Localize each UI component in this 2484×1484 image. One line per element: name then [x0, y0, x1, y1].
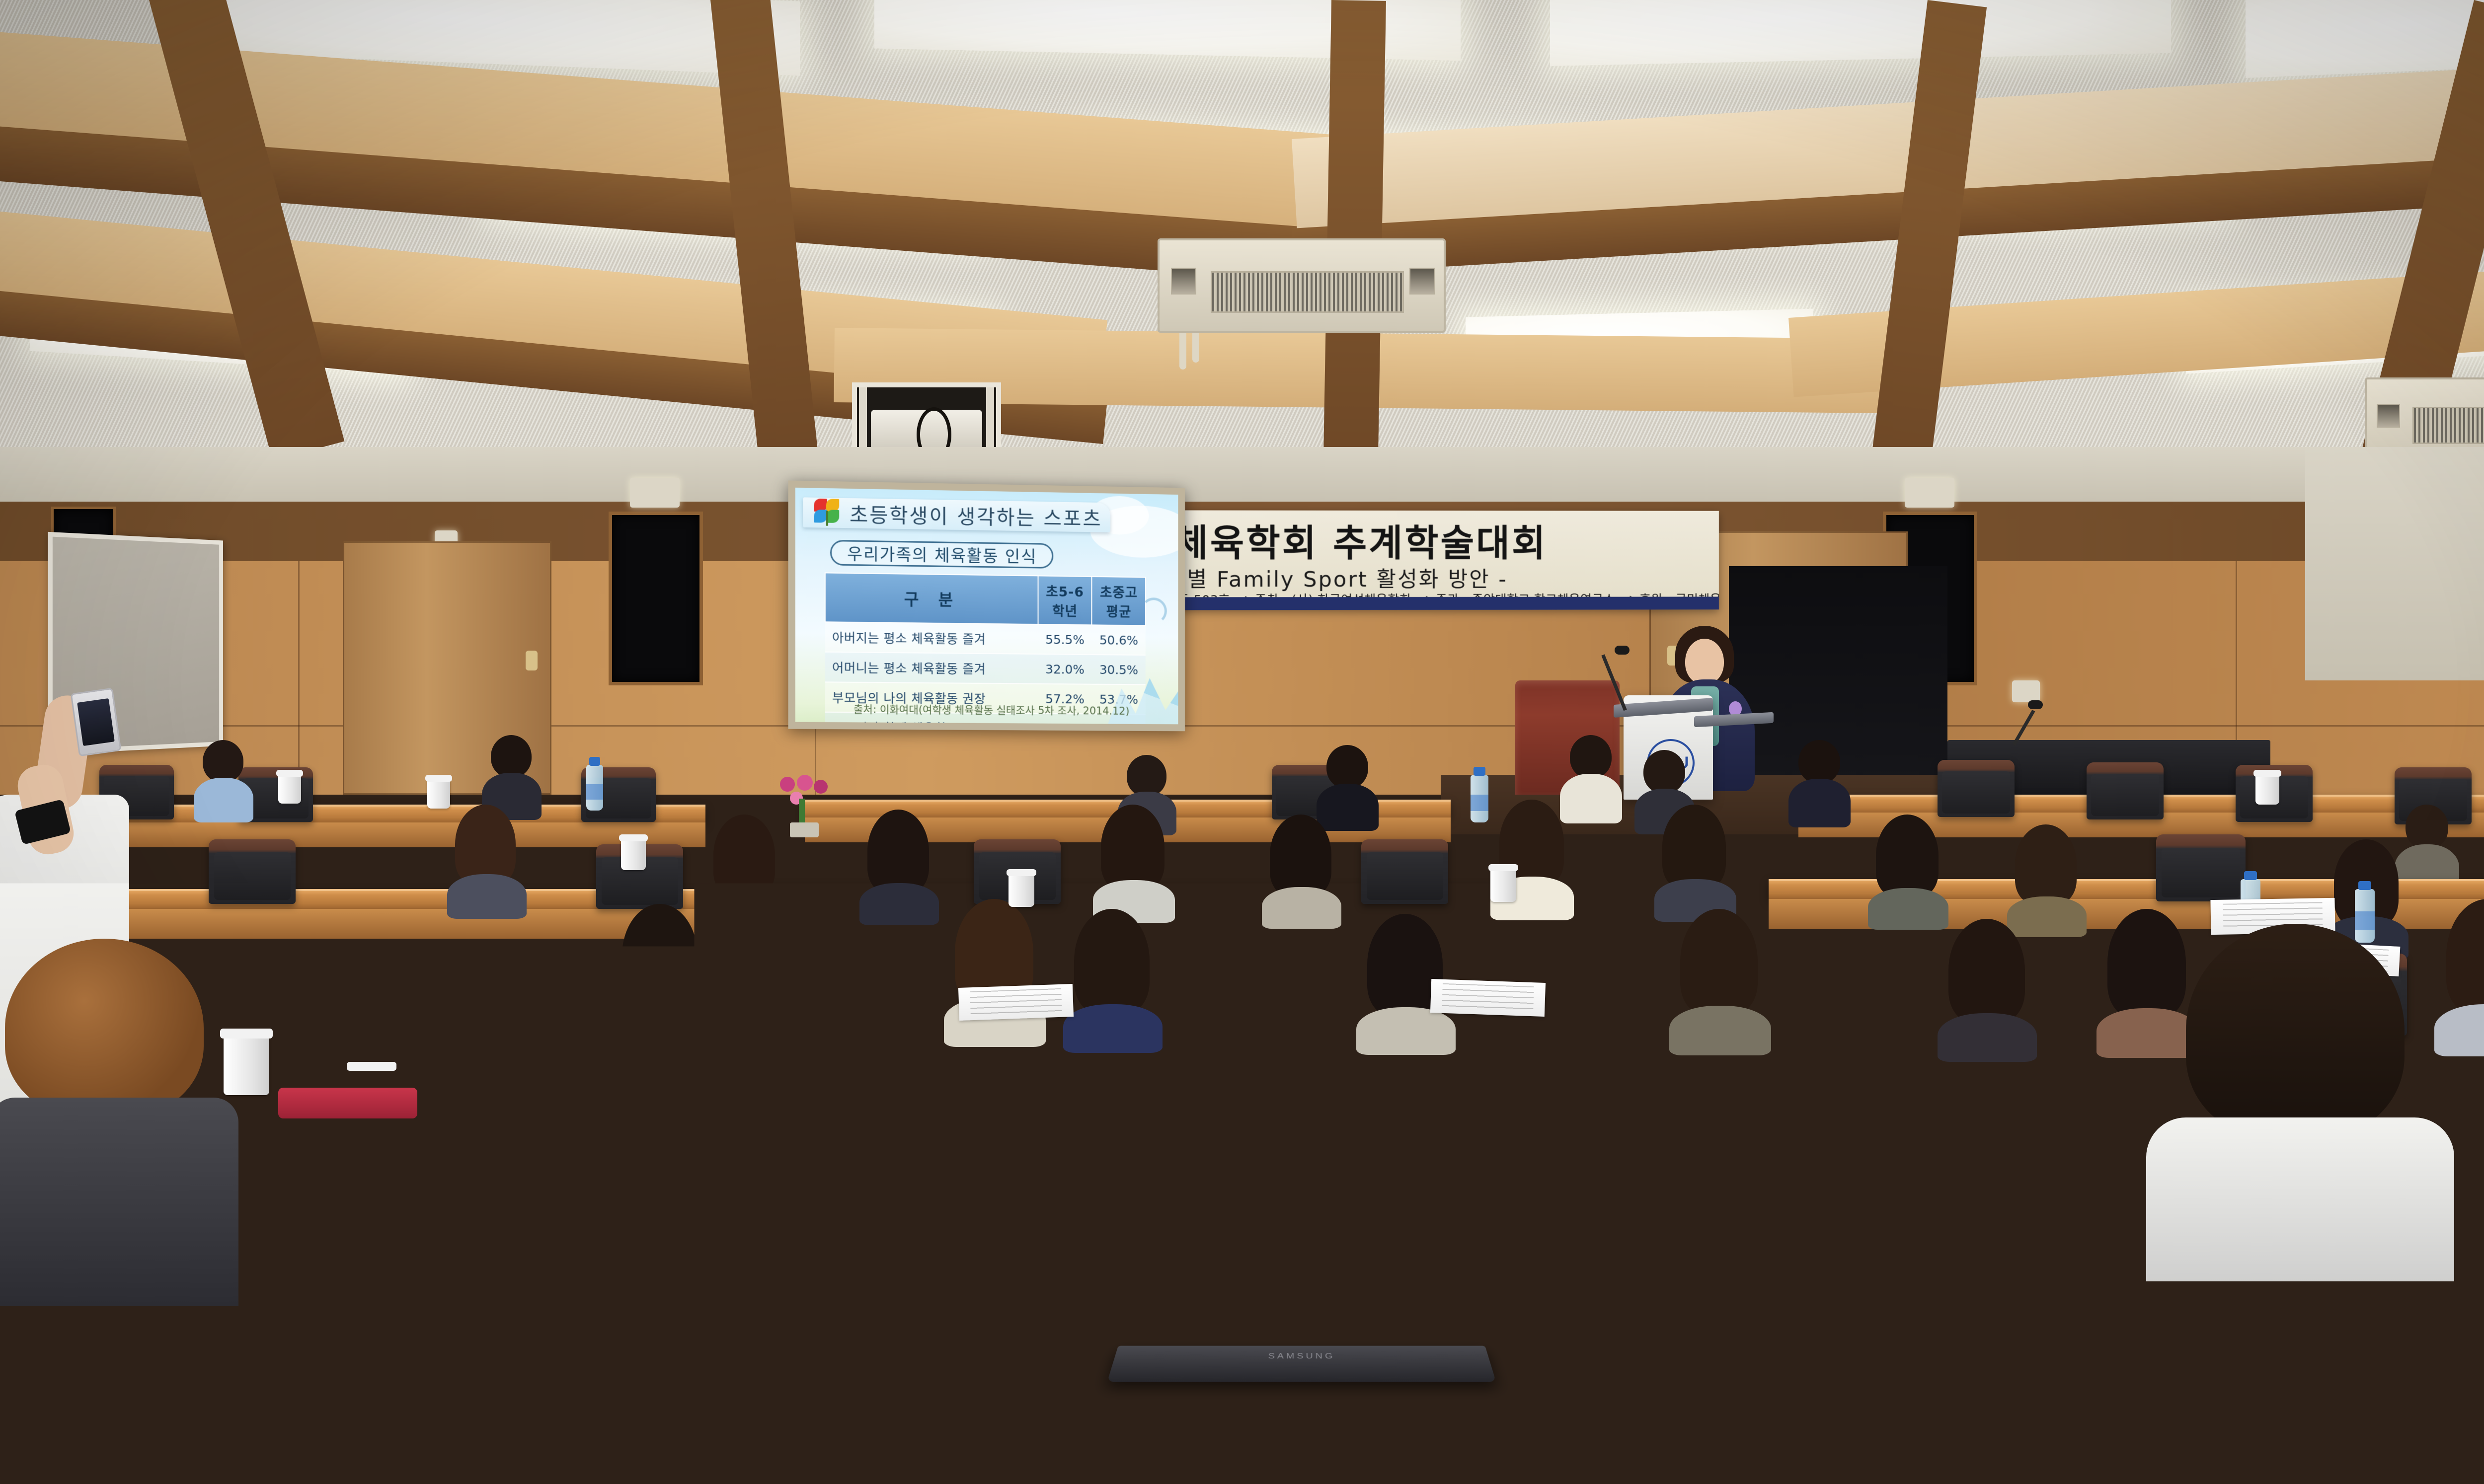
- desktop-icon[interactable]: [1148, 1207, 1159, 1218]
- desktop-icon[interactable]: [1148, 1127, 1159, 1138]
- desk-front-panel: [60, 822, 705, 847]
- paper-cup[interactable]: [527, 1301, 575, 1365]
- table-header-category: 구 분: [825, 573, 1038, 625]
- attendee-white-shirt: [2146, 1117, 2454, 1281]
- slide-swirl-decoration: [1141, 597, 1167, 624]
- table-header-col2: 초중고평균: [1092, 577, 1146, 626]
- handheld-microphone[interactable]: [1575, 1093, 1669, 1152]
- ac-vent-left: [1171, 268, 1196, 295]
- desktop-icon[interactable]: [1202, 1239, 1213, 1250]
- desktop-icon[interactable]: [1202, 1127, 1213, 1138]
- water-bottle[interactable]: [1471, 775, 1488, 822]
- podium-microphone-head: [1615, 646, 1630, 655]
- wallpaper-tagline: Designed to go, Powered to perform.: [1141, 1222, 1457, 1236]
- desktop-icon[interactable]: [1165, 1143, 1176, 1154]
- ac-grille: [2412, 407, 2484, 444]
- flower-arrangement: [775, 775, 835, 834]
- laptop-lid: Designed to go, Powered to perform. SAMS…: [1130, 1110, 1468, 1348]
- audience-member: [1938, 919, 2037, 1050]
- chair[interactable]: [775, 954, 879, 1033]
- chair[interactable]: [1361, 839, 1448, 904]
- audience-member: [1093, 805, 1175, 909]
- paper-cup[interactable]: [621, 839, 646, 870]
- row-value-2: 30.5%: [1092, 655, 1146, 685]
- ac-vent-left: [2377, 404, 2400, 428]
- row-label: 아버지는 평소 체육활동 즐겨: [825, 622, 1038, 654]
- attendee-jacket: [2464, 1242, 2484, 1484]
- desktop-icon[interactable]: [1148, 1159, 1159, 1170]
- ac-vent-right: [1409, 268, 1435, 295]
- laptop-base[interactable]: SAMSUNG: [1107, 1346, 1496, 1382]
- conference-proceedings-booklet[interactable]: [427, 1121, 577, 1193]
- desktop-icon[interactable]: [1148, 1239, 1159, 1250]
- audience-member-foreground: [2464, 1083, 2484, 1484]
- air-conditioner-unit: [1158, 238, 1446, 333]
- desktop-icon[interactable]: [1202, 1207, 1213, 1218]
- desktop-icon[interactable]: [1184, 1143, 1195, 1154]
- audience-member-foreground: [0, 939, 238, 1286]
- row-value-2: 50.6%: [1092, 625, 1146, 655]
- desktop-icon[interactable]: [1165, 1207, 1176, 1218]
- audience-member: [1262, 815, 1341, 914]
- ac-drain-pipe: [1179, 333, 1186, 370]
- chair[interactable]: [2087, 762, 2164, 819]
- audience-member: [1356, 914, 1456, 1043]
- audience-member: [1868, 815, 1948, 916]
- lecture-hall-photo: 여성체육학회 추계학술대회 생애주기별 Family Sport 활성화 방안 …: [0, 0, 2484, 1484]
- wall-seam: [298, 561, 300, 795]
- samsung-logo: SAMSUNG: [1357, 1293, 1441, 1321]
- conference-proceedings-booklet[interactable]: [296, 1114, 424, 1195]
- desktop-icon[interactable]: [1165, 1175, 1176, 1186]
- projection-screen: 초등학생이 생각하는 스포츠 우리가족의 체육활동 인식 구 분 초5-6학년 …: [788, 480, 1185, 731]
- audience-member: [447, 805, 527, 909]
- audience-member: [2007, 824, 2087, 924]
- attendee-jacket: [0, 1098, 238, 1306]
- slide-title-bar: 초등학생이 생각하는 스포츠: [803, 497, 1110, 532]
- paper-cup[interactable]: [278, 775, 301, 804]
- handout-paper[interactable]: [958, 984, 1074, 1021]
- paper-cup[interactable]: [2255, 775, 2279, 805]
- smartphone-camera[interactable]: [71, 688, 122, 757]
- red-pouch[interactable]: [278, 1088, 417, 1118]
- desktop-icon[interactable]: [1148, 1191, 1159, 1202]
- table-row: 어머니는 평소 체육활동 즐겨 32.0% 30.5%: [825, 652, 1146, 685]
- desktop-icon[interactable]: [1184, 1207, 1195, 1218]
- row-label: 어머니는 평소 체육활동 즐겨: [825, 652, 1038, 684]
- slide-title: 초등학생이 생각하는 스포츠: [850, 499, 1102, 532]
- row-value-1: 55.5%: [1038, 624, 1092, 655]
- desktop-icon[interactable]: [1202, 1143, 1213, 1154]
- desktop-icon[interactable]: [1165, 1191, 1176, 1202]
- audience-member: [859, 810, 939, 911]
- audience-member-foreground: [2146, 924, 2454, 1281]
- audience-member: [482, 735, 542, 815]
- desktop-icon[interactable]: [1184, 1159, 1195, 1170]
- desktop-icon[interactable]: [1165, 1239, 1176, 1250]
- yellow-note[interactable]: [654, 1114, 717, 1151]
- ac-drain-pipe: [1192, 333, 1199, 363]
- pinwheel-icon: [814, 499, 841, 527]
- table-row: 아버지는 평소 체육활동 즐겨 55.5% 50.6%: [825, 622, 1146, 655]
- paper-cup[interactable]: [427, 780, 450, 809]
- desktop-icon[interactable]: [1202, 1159, 1213, 1170]
- audience-member: [611, 904, 710, 1036]
- desktop-icon[interactable]: [1148, 1175, 1159, 1186]
- desktop-icon[interactable]: [1165, 1159, 1176, 1170]
- attendee-jacket: [805, 1356, 1103, 1484]
- webcam-icon: [1297, 1114, 1302, 1119]
- ceiling-light-panel: [2246, 0, 2484, 78]
- attendee-jacket: [507, 1356, 815, 1484]
- curly-hair: [5, 939, 204, 1117]
- wall-outlet-plate[interactable]: [2012, 680, 2040, 702]
- desktop-icon[interactable]: [1202, 1175, 1213, 1186]
- laptop-display[interactable]: Designed to go, Powered to perform. SAMS…: [1141, 1123, 1457, 1338]
- audience-member: [705, 815, 785, 914]
- chair[interactable]: [2156, 834, 2246, 901]
- desktop-icon[interactable]: [1184, 1175, 1195, 1186]
- table-header-col1: 초5-6학년: [1038, 576, 1092, 625]
- chair[interactable]: [1938, 760, 2015, 817]
- water-bottle[interactable]: [586, 765, 603, 811]
- wall-plaster-column: [2305, 447, 2484, 680]
- attendee-hair: [2186, 924, 2405, 1137]
- desktop-icon[interactable]: [1184, 1239, 1195, 1250]
- wall-sconce: [1905, 478, 1954, 508]
- slide-section-label: 우리가족의 체육활동 인식: [830, 540, 1053, 569]
- audience-member: [1669, 909, 1771, 1043]
- row-value-1: 32.0%: [1038, 654, 1092, 684]
- audience-member: [194, 740, 253, 815]
- slide-source-note: 출처: 이화여대(여학생 체육활동 실태조사 5차 조사, 2014.12): [830, 701, 1152, 718]
- desk-front-panel: [45, 909, 710, 939]
- ac-grille: [1211, 271, 1404, 313]
- audience-member-foreground: [805, 1152, 1103, 1484]
- door-handle[interactable]: [526, 651, 538, 670]
- table-header-row: 구 분 초5-6학년 초중고평균: [825, 573, 1146, 626]
- audience-member: [1654, 805, 1736, 909]
- handout-paper[interactable]: [1430, 979, 1546, 1017]
- laptop-bezel-brand: SAMSUNG: [1113, 1352, 1489, 1361]
- audience-member: [1063, 909, 1163, 1040]
- chair[interactable]: [1192, 954, 1299, 1036]
- laptop-computer[interactable]: Designed to go, Powered to perform. SAMS…: [1130, 1110, 1468, 1348]
- wall-speaker-left: [609, 512, 703, 685]
- ceiling: [0, 0, 2484, 487]
- table-microphone-head: [2028, 700, 2043, 709]
- desktop-icon[interactable]: [1148, 1143, 1159, 1154]
- paper-cup[interactable]: [224, 1036, 269, 1095]
- chair[interactable]: [209, 839, 296, 904]
- desktop-icon[interactable]: [1202, 1191, 1213, 1202]
- paper-cup[interactable]: [1490, 869, 1516, 902]
- attendee-hair: [840, 1152, 1068, 1376]
- presentation-slide: 초등학생이 생각하는 스포츠 우리가족의 체육활동 인식 구 분 초5-6학년 …: [795, 488, 1178, 724]
- wall-sconce: [630, 478, 680, 508]
- paper-cup[interactable]: [1009, 874, 1034, 907]
- wall-upper-plaster: [0, 447, 2484, 507]
- handout-paper[interactable]: [1745, 1351, 2031, 1484]
- presenter-head: [1685, 639, 1724, 684]
- desktop-icon[interactable]: [1184, 1191, 1195, 1202]
- desktop-icon[interactable]: [1184, 1127, 1195, 1138]
- smartphone-on-desk[interactable]: [214, 1435, 323, 1483]
- desktop-icon[interactable]: [1165, 1127, 1176, 1138]
- audience-member: [1788, 740, 1851, 824]
